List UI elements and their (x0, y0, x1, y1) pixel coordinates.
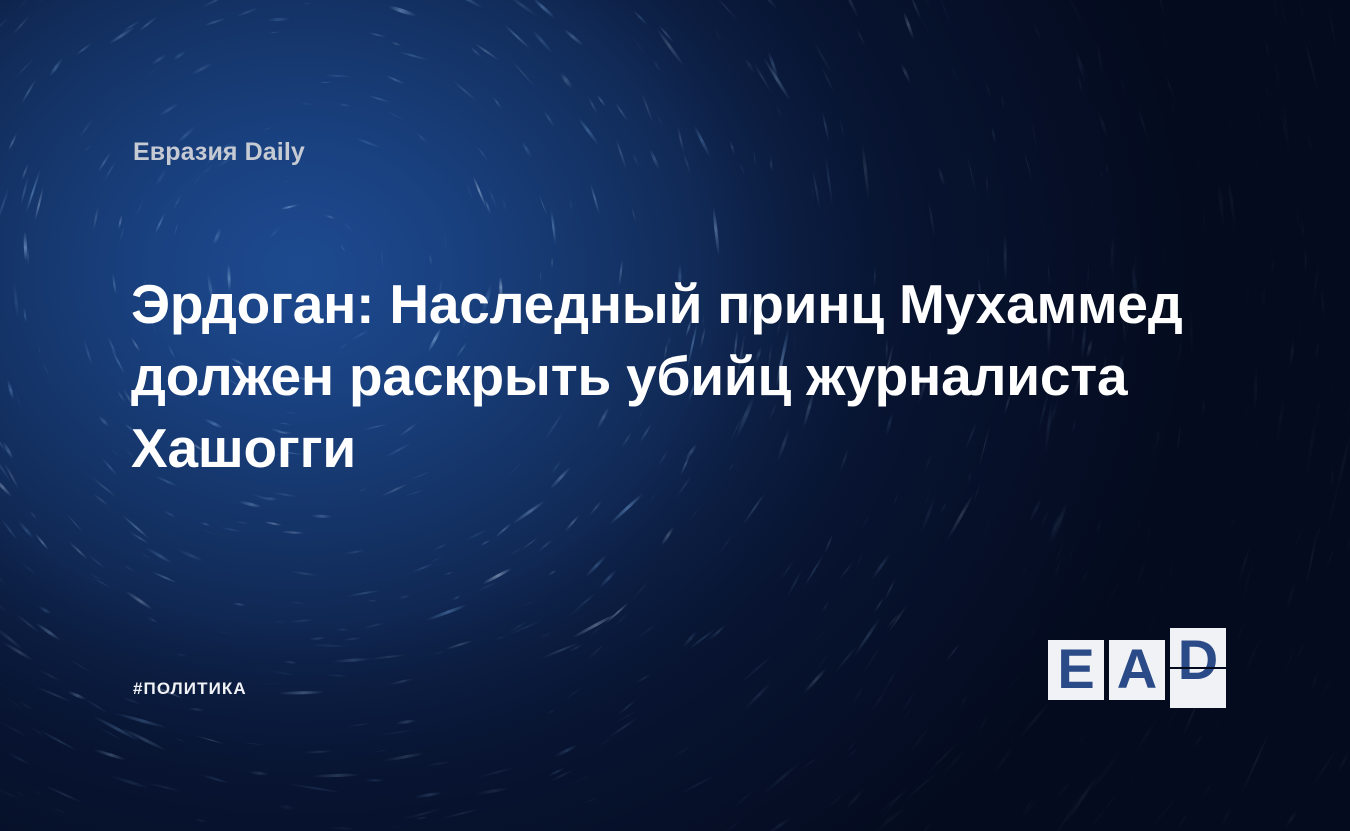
logo-tile-d-top: D (1170, 628, 1226, 667)
article-share-card: Евразия Daily Эрдоган: Наследный принц М… (0, 0, 1350, 831)
headline-line-3: Хашогги (131, 412, 1201, 484)
logo-letter-d-lower: D (1170, 669, 1226, 690)
page-title: Эрдоган: Наследный принц Мухаммед должен… (131, 268, 1201, 484)
logo-letter-e: E (1048, 640, 1104, 699)
eadaily-logo: E A D D (1048, 628, 1226, 708)
logo-tile-a: A (1109, 640, 1165, 700)
logo-tile-e: E (1048, 640, 1104, 700)
category-tag[interactable]: #ПОЛИТИКА (133, 679, 247, 699)
logo-tile-d-bottom: D (1170, 669, 1226, 708)
logo-letter-a: A (1109, 640, 1165, 699)
logo-letter-d-upper: D (1170, 630, 1226, 667)
headline-line-1: Эрдоган: Наследный принц Мухаммед (131, 268, 1201, 340)
publisher-wordmark: Евразия Daily (133, 138, 305, 167)
headline-line-2: должен раскрыть убийц журналиста (131, 340, 1201, 412)
